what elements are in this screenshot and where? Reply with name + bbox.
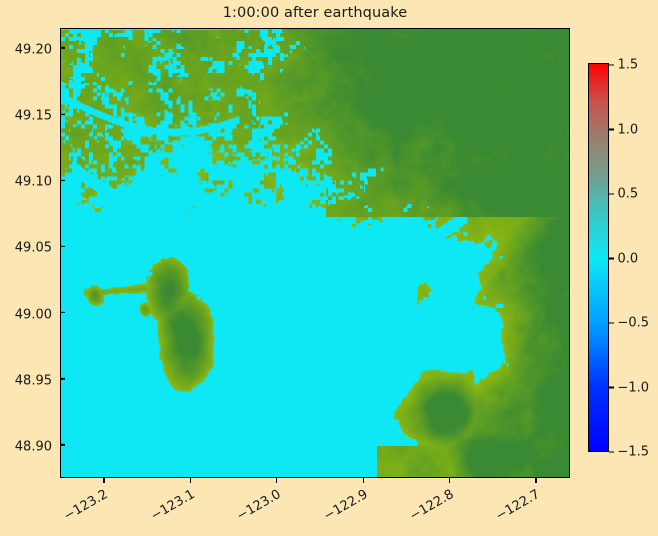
x-tick-mark [535,478,536,483]
y-tick-text: 49.05 [15,241,60,256]
y-tick-text: 48.90 [15,439,60,454]
y-tick-label: 49.10 [15,171,60,190]
colorbar-tick: −1.5 [609,442,649,461]
y-tick-text: 49.20 [15,42,60,57]
y-tick-mark [60,246,65,247]
colorbar-tick-text: 0.5 [614,187,639,202]
page-title: 1:00:00 after earthquake [60,5,570,21]
x-tick-text: −123.2 [62,487,111,524]
colorbar-tick-text: −1.5 [614,445,650,460]
colorbar-tick-text: −0.5 [614,316,650,331]
colorbar-tick: 1.0 [609,119,638,138]
y-tick-mark [60,312,65,313]
y-tick-text: 48.95 [15,373,60,388]
x-tick-mark [103,478,104,483]
colorbar-ticks: −1.5−1.0−0.50.00.51.01.5 [588,63,609,452]
y-tick-mark [60,180,65,181]
colorbar-tick: 0.0 [609,248,638,267]
inundation-heatmap [61,29,569,477]
colorbar-tick: 1.5 [609,55,638,74]
y-tick-text: 49.15 [15,109,60,124]
y-tick-text: 49.00 [15,307,60,322]
colorbar-tick: −1.0 [609,377,649,396]
colorbar-tick-text: 0.0 [614,251,639,266]
x-tick-mark [449,478,450,483]
colorbar-tick-text: 1.5 [614,58,639,73]
y-tick-mark [60,378,65,379]
x-tick-mark [190,478,191,483]
y-tick-mark [60,113,65,114]
y-tick-label: 49.15 [15,105,60,124]
y-tick-label: 49.05 [15,237,60,256]
x-tick-mark [276,478,277,483]
colorbar-tick: −0.5 [609,313,649,332]
y-tick-label: 49.20 [15,38,60,57]
y-tick-label: 49.00 [15,303,60,322]
map-axes[interactable] [60,28,570,478]
y-tick-label: 48.95 [15,369,60,388]
y-tick-mark [60,444,65,445]
colorbar-tick-text: −1.0 [614,380,650,395]
y-tick-text: 49.10 [15,175,60,190]
x-tick-text: −123.0 [234,487,283,524]
figure-canvas: 1:00:00 after earthquake 48.9048.9549.00… [0,0,658,536]
colorbar-tick-text: 1.0 [614,122,639,137]
x-tick-text: −122.7 [494,487,543,524]
colorbar-tick: 0.5 [609,184,638,203]
x-tick-text: −122.8 [407,487,456,524]
y-tick-mark [60,47,65,48]
x-tick-text: −123.1 [148,487,197,524]
y-tick-label: 48.90 [15,435,60,454]
x-tick-text: −122.9 [321,487,370,524]
x-tick-mark [363,478,364,483]
